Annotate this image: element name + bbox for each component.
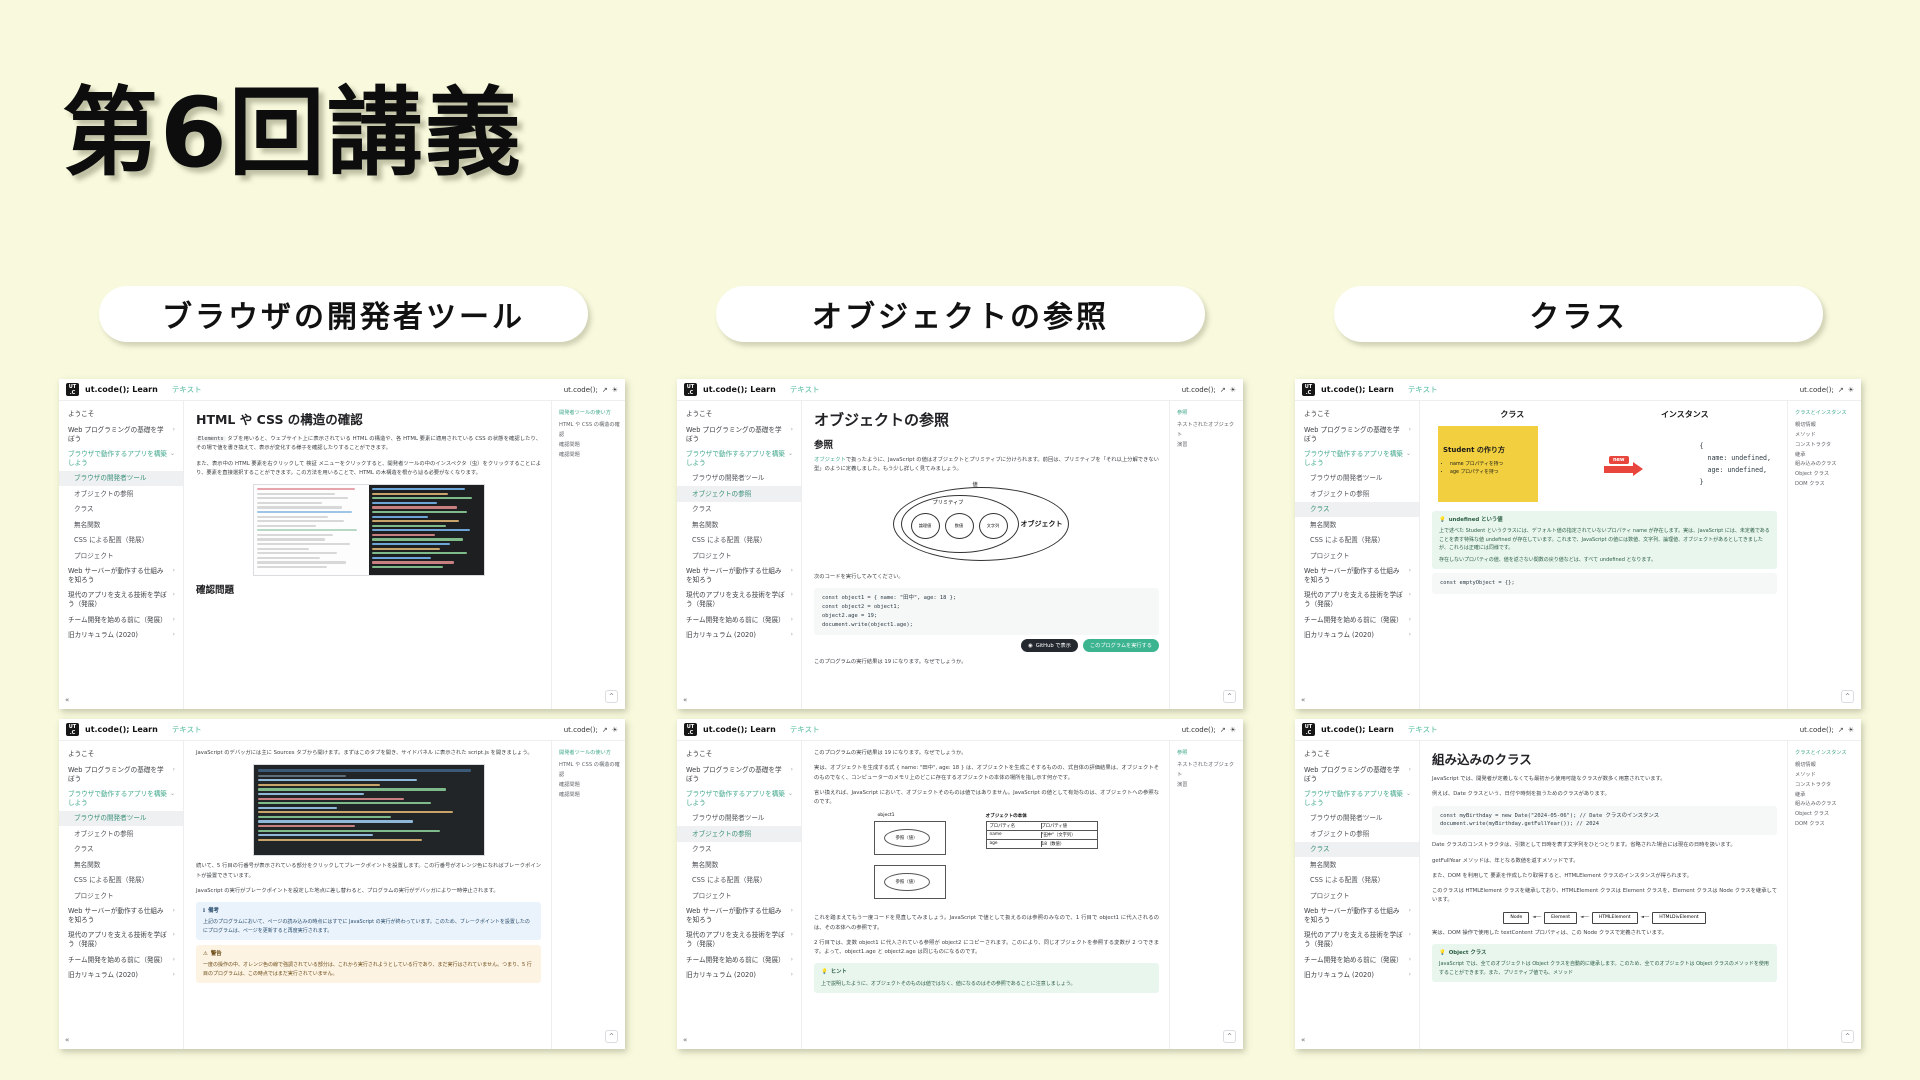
paragraph: 続いて、5 行目の行番号が表示されている部分をクリックしてブレークポイントを設置… [196,862,541,881]
main-content: このプログラムの実行結果は 19 になります。なぜでしょうか。 実は、オブジェク… [802,741,1169,1049]
topright-label: ut.code(); [1800,386,1834,394]
sidebar-item-modern-tech[interactable]: 現代のアプリを支える技術を学ぼう（発展）› [59,588,183,612]
topright-label: ut.code(); [564,726,598,734]
sidebar-item-old-curriculum[interactable]: 旧カリキュラム (2020)› [1295,628,1419,643]
sidebar-item-object-reference[interactable]: オブジェクトの参照 [59,486,183,501]
scroll-to-top-button[interactable]: ^ [605,690,618,703]
sidebar: ようこそ Web プログラミングの基礎を学ぼう› ブラウザで動作するアプリを構築… [59,401,184,709]
chevron-right-icon: › [791,907,793,924]
new-keyword-tag: new [1609,456,1629,464]
paragraph: 例えば、Date クラスという、日付や時刻を扱うためのクラスがあります。 [1432,790,1777,799]
paragraph: これを踏まえてもう一度コードを見直してみましょう。JavaScript で値とし… [814,914,1159,933]
page-body: ようこそ Web プログラミングの基礎を学ぼう› ブラウザで動作するアプリを構築… [59,401,625,709]
topright-label: ut.code(); [1182,726,1216,734]
paragraph: このプログラムの実行結果は 19 になります。なぜでしょうか。 [814,749,1159,758]
toc-item[interactable]: Object クラス [1795,470,1856,480]
note-body-2: 存在しないプロパティの値、値を返さない関数の戻り値などは、すべて undefin… [1439,556,1770,565]
brand-label: ut.code(); Learn [703,385,776,394]
sticky-item: name プロパティを持つ [1450,461,1533,469]
sidebar-item-browser-apps[interactable]: ブラウザで動作するアプリを構築しよう⌄ [1295,787,1419,811]
venn-inner-label: プリミティブ [933,499,964,506]
paragraph: getFullYear メソッドは、年となる数値を返すメソッドです。 [1432,857,1777,866]
chain-node: HTMLDivElement [1652,912,1705,924]
sidebar-item-devtools[interactable]: ブラウザの開発者ツール [1295,811,1419,826]
screenshot-thumb-6: UT .C ut.code(); Learn テキスト ut.code(); ↗… [1295,719,1861,1049]
scroll-to-top-button[interactable]: ^ [1223,1030,1236,1043]
devtools-sources-screenshot [253,764,485,856]
venn-diagram: 値 プリミティブ オブジェクト 論理値 数値 文字列 [893,481,1081,567]
external-link-icon[interactable]: ↗ [1220,726,1226,734]
scroll-to-top-button[interactable]: ^ [605,1030,618,1043]
sidebar-collapse-button[interactable]: « [1301,1036,1305,1044]
run-program-button[interactable]: このプログラムを実行する [1083,639,1159,652]
new-arrow: new [1604,456,1634,473]
sidebar-item-welcome[interactable]: ようこそ [59,407,183,422]
brand-label: ut.code(); Learn [703,725,776,734]
sidebar-item-web-basics[interactable]: Web プログラミングの基礎を学ぼう› [59,762,183,786]
instance-code: { name: undefined, age: undefined, } [1699,440,1771,489]
warning-icon: ⚠ [203,950,208,959]
sidebar-item-object-reference[interactable]: オブジェクトの参照 [59,826,183,841]
sidebar-item-web-server[interactable]: Web サーバーが動作する仕組みを知ろう› [677,904,801,928]
sidebar: ようこそ Web プログラミングの基礎を学ぼう› ブラウザで動作するアプリを構築… [59,741,184,1049]
code-line: const object2 = object1; [822,603,1151,612]
sidebar-item-devtools[interactable]: ブラウザの開発者ツール [677,471,801,486]
code-line: const myBirthday = new Date("2024-05-06"… [1440,812,1769,821]
content-heading: オブジェクトの参照 [814,409,1159,430]
devtools-right-pane [369,485,484,575]
main-content: 組み込みのクラス JavaScript では、開発者が定義しなくても最初から使用… [1420,741,1787,1049]
sidebar-item-team-dev[interactable]: チーム開発を始める前に（発展）› [59,952,183,967]
sidebar-item-welcome[interactable]: ようこそ [59,747,183,762]
sidebar-item-browser-apps[interactable]: ブラウザで動作するアプリを構築しよう⌄ [1295,447,1419,471]
sun-icon[interactable]: ☀ [612,726,618,734]
chevron-right-icon: › [173,766,175,783]
toc-item[interactable]: DOM クラス [1795,820,1856,830]
arrow-right-icon [1604,466,1634,473]
sidebar-item-web-server[interactable]: Web サーバーが動作する仕組みを知ろう› [59,904,183,928]
info-icon: ℹ [203,907,205,916]
sidebar-item-anonymous-function[interactable]: 無名関数 [1295,517,1419,532]
arrow-right-icon: ◄── [1580,915,1589,920]
sidebar-item-class[interactable]: クラス [59,502,183,517]
paragraph: 言い換えれば、JavaScript において、オブジェクトそのものは値ではありま… [814,789,1159,808]
main-content: クラス インスタンス Student の作り方 name プロパティを持つ ag… [1420,401,1787,709]
utcode-logo-icon: UT .C [1302,723,1315,736]
code-line: const object1 = { name: "田中", age: 18 }; [822,594,1151,603]
toc-item[interactable]: HTML や CSS の構造の確認 [559,761,620,781]
sidebar-collapse-button[interactable]: « [65,696,69,704]
sidebar-item-web-basics[interactable]: Web プログラミングの基礎を学ぼう› [677,762,801,786]
paragraph: 実は、オブジェクトを生成する式 { name: "田中", age: 18 } … [814,764,1159,783]
toc-item[interactable]: 確認問題 [559,451,620,461]
chevron-right-icon: › [1409,907,1411,924]
paragraph: JavaScript では、開発者が定義しなくても最初から使用可能なクラスが数多… [1432,775,1777,784]
page-toc: クラスとインスタンス 親切情報 メソッド コンストラクタ 継承 組み込みのクラス… [1787,401,1861,709]
instance-column-title: インスタンス [1661,409,1709,420]
sidebar-item-class[interactable]: クラス [1295,502,1419,517]
screenshot-thumb-2: UT .C ut.code(); Learn テキスト ut.code(); ↗… [677,379,1243,709]
chevron-right-icon: › [173,956,175,965]
topic-pill-3: クラス [1334,286,1823,342]
utcode-logo-icon: UT .C [66,723,79,736]
arrow-right-icon: ◄── [1641,915,1650,920]
sidebar-item-class[interactable]: クラス [677,842,801,857]
toc-item[interactable]: コンストラクタ [1795,441,1856,451]
toc-item[interactable]: 組み込みのクラス [1795,800,1856,810]
sidebar-item-web-server[interactable]: Web サーバーが動作する仕組みを知ろう› [1295,904,1419,928]
sidebar-item-modern-tech[interactable]: 現代のアプリを支える技術を学ぼう（発展）› [677,588,801,612]
sidebar-item-old-curriculum[interactable]: 旧カリキュラム (2020)› [1295,968,1419,983]
sidebar-item-devtools[interactable]: ブラウザの開発者ツール [1295,471,1419,486]
arrow-right-icon: ◄── [1532,915,1541,920]
sidebar-item-welcome[interactable]: ようこそ [1295,407,1419,422]
sidebar-item-project[interactable]: プロジェクト [59,548,183,563]
external-link-icon[interactable]: ↗ [602,386,608,394]
table-header-row: プロパティ名 プロパティ値 [987,822,1097,831]
paragraph: JavaScript の実行がブレークポイントを設定した地点に差し替わると、プロ… [196,887,541,896]
external-link-icon[interactable]: ↗ [1838,726,1844,734]
sun-icon[interactable]: ☀ [1848,386,1854,394]
main-content: オブジェクトの参照 参照 オブジェクトで扱ったように、JavaScript の値… [802,401,1169,709]
sidebar-item-anonymous-function[interactable]: 無名関数 [59,857,183,872]
external-link-icon[interactable]: ↗ [602,726,608,734]
chevron-right-icon: › [791,956,793,965]
paragraph: Elements タブを用いると、ウェブサイト上に表示されている HTML の構… [196,435,541,454]
toc-item[interactable]: 親切情報 [1795,761,1856,771]
nav-text-link[interactable]: テキスト [1408,724,1438,735]
scroll-to-top-button[interactable]: ^ [1841,690,1854,703]
utcode-logo-icon: UT .C [66,383,79,396]
sidebar-item-project[interactable]: プロジェクト [677,548,801,563]
sidebar-item-css-layout[interactable]: CSS による配置（発展） [1295,533,1419,548]
sidebar-item-anonymous-function[interactable]: 無名関数 [677,857,801,872]
topbar-right: ut.code(); ↗ ☀ [1182,726,1236,734]
nav-text-link[interactable]: テキスト [1408,384,1438,395]
sidebar-item-old-curriculum[interactable]: 旧カリキュラム (2020)› [59,968,183,983]
chevron-right-icon: › [791,426,793,443]
lightbulb-icon: 💡 [1439,516,1446,525]
toc-item[interactable]: 継承 [1795,791,1856,801]
class-hierarchy-chain: Node ◄── Element ◄── HTMLElement ◄── HTM… [1432,912,1777,924]
chevron-down-icon: ⌄ [170,450,175,467]
toc-item[interactable]: 確認問題 [559,441,620,451]
sidebar: ようこそ Web プログラミングの基礎を学ぼう› ブラウザで動作するアプリを構築… [1295,741,1420,1049]
chevron-down-icon: ⌄ [1406,450,1411,467]
content-subheading: 参照 [814,437,1159,451]
toc-item[interactable]: コンストラクタ [1795,781,1856,791]
chevron-down-icon: ⌄ [1406,790,1411,807]
toc-item[interactable]: DOM クラス [1795,480,1856,490]
paragraph: また、DOM を利用して 要素を作成したり取得すると、HTMLElement ク… [1432,872,1777,881]
sidebar-item-css-layout[interactable]: CSS による配置（発展） [677,533,801,548]
external-link-icon[interactable]: ↗ [1220,386,1226,394]
sidebar-item-modern-tech[interactable]: 現代のアプリを支える技術を学ぼう（発展）› [1295,588,1419,612]
sidebar-item-anonymous-function[interactable]: 無名関数 [59,517,183,532]
sidebar-item-anonymous-function[interactable]: 無名関数 [1295,857,1419,872]
chevron-right-icon: › [173,426,175,443]
page-body: ようこそ Web プログラミングの基礎を学ぼう› ブラウザで動作するアプリを構築… [677,401,1243,709]
scroll-to-top-button[interactable]: ^ [1223,690,1236,703]
chevron-right-icon: › [1409,956,1411,965]
note-body: 上で説明したように、オブジェクトそのものは値ではなく、値になるのはその参照である… [821,980,1152,989]
sidebar-item-web-basics[interactable]: Web プログラミングの基礎を学ぼう› [1295,422,1419,446]
utcode-logo-icon: UT .C [1302,383,1315,396]
paragraph: JavaScript のデバッガには主に Sources タブから開けます。まず… [196,749,541,758]
paragraph: 実は、DOM 操作で使用した textContent プロパティは、この Nod… [1432,929,1777,938]
sidebar-item-object-reference[interactable]: オブジェクトの参照 [1295,486,1419,501]
object-reference-diagram: object1 オブジェクトの本体 参照（値） 参照（値） プロパティ名 プロパ… [868,813,1106,909]
toc-item[interactable]: 確認問題 [559,781,620,791]
topic-pill-3-label: クラス [1529,292,1627,336]
chain-node: Node [1503,912,1529,924]
content-heading: HTML や CSS の構造の確認 [196,409,541,428]
main-content: HTML や CSS の構造の確認 Elements タブを用いると、ウェブサイ… [184,401,551,709]
code-line: name: undefined, [1699,452,1771,464]
sidebar-item-welcome[interactable]: ようこそ [1295,747,1419,762]
sidebar-item-web-server[interactable]: Web サーバーが動作する仕組みを知ろう› [1295,564,1419,588]
chevron-right-icon: › [173,907,175,924]
sidebar-item-css-layout[interactable]: CSS による配置（発展） [1295,873,1419,888]
chevron-right-icon: › [173,567,175,584]
note-callout: 💡undefined という値 上で述べた Student というクラスには、デ… [1432,511,1777,569]
sidebar-item-team-dev[interactable]: チーム開発を始める前に（発展）› [59,612,183,627]
site-topbar: UT .C ut.code(); Learn テキスト ut.code(); ↗… [1295,379,1861,401]
chevron-right-icon: › [791,631,793,640]
chevron-right-icon: › [1409,591,1411,608]
page-toc: 参照 ネストされたオブジェクト 演習 [1169,741,1243,1049]
sidebar-item-modern-tech[interactable]: 現代のアプリを支える技術を学ぼう（発展）› [677,928,801,952]
toc-item[interactable]: Object クラス [1795,810,1856,820]
sidebar-item-class[interactable]: クラス [1295,842,1419,857]
sidebar-item-project[interactable]: プロジェクト [1295,548,1419,563]
chevron-right-icon: › [1409,631,1411,640]
sidebar-item-team-dev[interactable]: チーム開発を始める前に（発展）› [677,952,801,967]
sidebar-item-web-basics[interactable]: Web プログラミングの基礎を学ぼう› [677,422,801,446]
toc-heading: 参照 [1177,749,1238,759]
toc-item[interactable]: 組み込みのクラス [1795,460,1856,470]
sidebar-item-team-dev[interactable]: チーム開発を始める前に（発展）› [1295,612,1419,627]
chevron-right-icon: › [791,591,793,608]
note-body: JavaScript では、全てのオブジェクトは Object クラスを自動的に… [1439,960,1770,977]
sidebar-item-class[interactable]: クラス [59,842,183,857]
chevron-right-icon: › [791,931,793,948]
screenshot-thumb-5: UT .C ut.code(); Learn テキスト ut.code(); ↗… [677,719,1243,1049]
devtools-screenshot-image [253,484,485,576]
utcode-logo-icon: UT .C [684,383,697,396]
note-title: ℹ備考 [203,907,534,916]
toc-item[interactable]: 親切情報 [1795,421,1856,431]
screenshot-thumb-4: UT .C ut.code(); Learn テキスト ut.code(); ↗… [59,719,625,1049]
paragraph: オブジェクトで扱ったように、JavaScript の値はオブジェクトとプリミティ… [814,456,1159,475]
chevron-down-icon: ⌄ [170,790,175,807]
figure-devtools [196,484,541,576]
note-title: 💡ヒント [821,968,1152,977]
sidebar-item-web-basics[interactable]: Web プログラミングの基礎を学ぼう› [1295,762,1419,786]
main-content: JavaScript のデバッガには主に Sources タブから開けます。まず… [184,741,551,1049]
chevron-right-icon: › [791,971,793,980]
code-line: } [1699,476,1771,488]
sidebar-item-object-reference[interactable]: オブジェクトの参照 [1295,826,1419,841]
page-toc: 開発者ツールの使い方 HTML や CSS の構造の確認 確認問題 確認問題 [551,401,625,709]
nav-text-link[interactable]: テキスト [172,724,202,735]
lightbulb-icon: 💡 [1439,949,1446,958]
sidebar-item-css-layout[interactable]: CSS による配置（発展） [677,873,801,888]
github-icon: ◉ [1028,643,1033,649]
external-link-icon[interactable]: ↗ [1838,386,1844,394]
chevron-right-icon: › [1409,567,1411,584]
brand-label: ut.code(); Learn [85,385,158,394]
sidebar-item-team-dev[interactable]: チーム開発を始める前に（発展）› [1295,952,1419,967]
screenshot-thumb-1: UT .C ut.code(); Learn テキスト ut.code(); ↗… [59,379,625,709]
paragraph: Date クラスのコンストラクタは、引数として日時を表す文字列をひとつとります。… [1432,841,1777,850]
chevron-right-icon: › [1409,766,1411,783]
sidebar-collapse-button[interactable]: « [683,696,687,704]
chevron-right-icon: › [173,971,175,980]
toc-item[interactable]: 確認問題 [559,791,620,801]
topic-pill-1: ブラウザの開発者ツール [99,286,588,342]
chevron-down-icon: ⌄ [788,790,793,807]
diagram-label-object1: object1 [878,813,895,818]
toc-item[interactable]: ネストされたオブジェクト [1177,421,1238,441]
toc-item[interactable]: 演習 [1177,441,1238,451]
table-row: age 18（数値） [987,840,1097,848]
class-sticky-note: Student の作り方 name プロパティを持つ age プロパティを持つ [1438,426,1538,502]
toc-item[interactable]: ネストされたオブジェクト [1177,761,1238,781]
sun-icon[interactable]: ☀ [1230,726,1236,734]
note-callout-info: ℹ備考 上記のプログラムにおいて、ページの読み込みの時点にはすでに JavaSc… [196,902,541,940]
note-title: 💡Object クラス [1439,949,1770,958]
note-callout-warning: ⚠警告 一度の操作の中、オレンジ色の線で強調されている部分は、これから実行されよ… [196,945,541,983]
page-toc: クラスとインスタンス 親切情報 メソッド コンストラクタ 継承 組み込みのクラス… [1787,741,1861,1049]
venn-small-string: 文字列 [979,513,1008,539]
sidebar-item-modern-tech[interactable]: 現代のアプリを支える技術を学ぼう（発展）› [1295,928,1419,952]
site-topbar: UT .C ut.code(); Learn テキスト ut.code(); ↗… [677,719,1243,741]
sidebar-item-web-server[interactable]: Web サーバーが動作する仕組みを知ろう› [59,564,183,588]
github-view-button[interactable]: ◉GitHub で表示 [1021,639,1078,652]
figure-sources [196,764,541,856]
page-body: ようこそ Web プログラミングの基礎を学ぼう› ブラウザで動作するアプリを構築… [677,741,1243,1049]
sidebar-item-browser-apps[interactable]: ブラウザで動作するアプリを構築しよう⌄ [59,787,183,811]
chevron-right-icon: › [1409,426,1411,443]
sidebar-collapse-button[interactable]: « [65,1036,69,1044]
topright-label: ut.code(); [564,386,598,394]
page-body: ようこそ Web プログラミングの基礎を学ぼう› ブラウザで動作するアプリを構築… [1295,741,1861,1049]
toc-heading: 開発者ツールの使い方 [559,409,620,419]
chevron-right-icon: › [791,567,793,584]
sidebar-item-welcome[interactable]: ようこそ [677,747,801,762]
venn-small-number: 数値 [945,513,974,539]
chevron-down-icon: ⌄ [788,450,793,467]
toc-item[interactable]: HTML や CSS の構造の確認 [559,421,620,441]
diagram-property-table: プロパティ名 プロパティ値 name "田中"（文字列） age 18（数値） [986,821,1098,849]
sticky-item: age プロパティを持つ [1450,469,1533,477]
paragraph: このプログラムの実行結果は 19 になります。なぜでしょうか。 [814,658,1159,667]
toc-item[interactable]: 演習 [1177,781,1238,791]
sidebar-item-browser-apps[interactable]: ブラウザで動作するアプリを構築しよう⌄ [677,787,801,811]
screenshot-thumb-3: UT .C ut.code(); Learn テキスト ut.code(); ↗… [1295,379,1861,709]
topbar-right: ut.code(); ↗ ☀ [564,386,618,394]
page-toc: 参照 ネストされたオブジェクト 演習 [1169,401,1243,709]
sun-icon[interactable]: ☀ [612,386,618,394]
toc-item[interactable]: 継承 [1795,451,1856,461]
page-toc: 開発者ツールの使い方 HTML や CSS の構造の確認 確認問題 確認問題 [551,741,625,1049]
chevron-right-icon: › [173,616,175,625]
page-body: ようこそ Web プログラミングの基礎を学ぼう› ブラウザで動作するアプリを構築… [59,741,625,1049]
sidebar-item-old-curriculum[interactable]: 旧カリキュラム (2020)› [59,628,183,643]
slide-root: 第6回講義 ブラウザの開発者ツール オブジェクトの参照 クラス UT .C ut… [0,0,1920,1080]
sidebar-item-devtools[interactable]: ブラウザの開発者ツール [59,811,183,826]
sidebar-item-css-layout[interactable]: CSS による配置（発展） [59,873,183,888]
sidebar: ようこそ Web プログラミングの基礎を学ぼう› ブラウザで動作するアプリを構築… [1295,401,1420,709]
sidebar-item-browser-apps[interactable]: ブラウザで動作するアプリを構築しよう⌄ [677,447,801,471]
sidebar-item-anonymous-function[interactable]: 無名関数 [677,517,801,532]
note-body: 一度の操作の中、オレンジ色の線で強調されている部分は、これから実行されようとして… [203,961,534,978]
sidebar-item-object-reference[interactable]: オブジェクトの参照 [677,486,801,501]
sun-icon[interactable]: ☀ [1230,386,1236,394]
venn-small-boolean: 論理値 [911,513,940,539]
toc-heading: クラスとインスタンス [1795,749,1856,759]
content-subheading: 確認問題 [196,582,541,596]
topbar-right: ut.code(); ↗ ☀ [1800,726,1854,734]
site-topbar: UT .C ut.code(); Learn テキスト ut.code(); ↗… [59,719,625,741]
sidebar-item-css-layout[interactable]: CSS による配置（発展） [59,533,183,548]
sidebar-item-web-basics[interactable]: Web プログラミングの基礎を学ぼう› [59,422,183,446]
code-line: document.write(myBirthday.getFullYear())… [1440,820,1769,829]
code-line: age: undefined, [1699,464,1771,476]
sidebar-item-web-server[interactable]: Web サーバーが動作する仕組みを知ろう› [677,564,801,588]
sidebar-item-project[interactable]: プロジェクト [677,888,801,903]
chevron-right-icon: › [791,766,793,783]
topbar-right: ut.code(); ↗ ☀ [1182,386,1236,394]
diagram-label-object-body: オブジェクトの本体 [986,813,1027,819]
sun-icon[interactable]: ☀ [1848,726,1854,734]
sidebar-item-browser-apps[interactable]: ブラウザで動作するアプリを構築しよう⌄ [59,447,183,471]
nav-text-link[interactable]: テキスト [790,384,820,395]
paragraph: 2 行目では、変数 object1 に代入されている参照が object2 にコ… [814,939,1159,958]
toc-item[interactable]: メソッド [1795,431,1856,441]
sidebar-item-devtools[interactable]: ブラウザの開発者ツール [677,811,801,826]
sidebar-item-devtools[interactable]: ブラウザの開発者ツール [59,471,183,486]
chevron-right-icon: › [1409,971,1411,980]
note-callout: 💡Object クラス JavaScript では、全てのオブジェクトは Obj… [1432,944,1777,982]
chevron-right-icon: › [173,631,175,640]
sidebar-item-project[interactable]: プロジェクト [59,888,183,903]
topbar-right: ut.code(); ↗ ☀ [564,726,618,734]
sidebar-item-welcome[interactable]: ようこそ [677,407,801,422]
sidebar-collapse-button[interactable]: « [683,1036,687,1044]
toc-item[interactable]: メソッド [1795,771,1856,781]
utcode-logo-icon: UT .C [684,723,697,736]
nav-text-link[interactable]: テキスト [790,724,820,735]
topic-pill-2-label: オブジェクトの参照 [812,292,1109,336]
site-topbar: UT .C ut.code(); Learn テキスト ut.code(); ↗… [677,379,1243,401]
toc-heading: 参照 [1177,409,1238,419]
code-block: const object1 = { name: "田中", age: 18 };… [814,588,1159,636]
sidebar-item-class[interactable]: クラス [677,502,801,517]
sidebar-item-old-curriculum[interactable]: 旧カリキュラム (2020)› [677,628,801,643]
brand-label: ut.code(); Learn [85,725,158,734]
sidebar-item-object-reference[interactable]: オブジェクトの参照 [677,826,801,841]
nav-text-link[interactable]: テキスト [172,384,202,395]
chevron-right-icon: › [173,931,175,948]
scroll-to-top-button[interactable]: ^ [1841,1030,1854,1043]
sidebar-item-project[interactable]: プロジェクト [1295,888,1419,903]
sidebar-collapse-button[interactable]: « [1301,696,1305,704]
sidebar-item-old-curriculum[interactable]: 旧カリキュラム (2020)› [677,968,801,983]
sidebar-item-team-dev[interactable]: チーム開発を始める前に（発展）› [677,612,801,627]
sidebar-item-modern-tech[interactable]: 現代のアプリを支える技術を学ぼう（発展）› [59,928,183,952]
